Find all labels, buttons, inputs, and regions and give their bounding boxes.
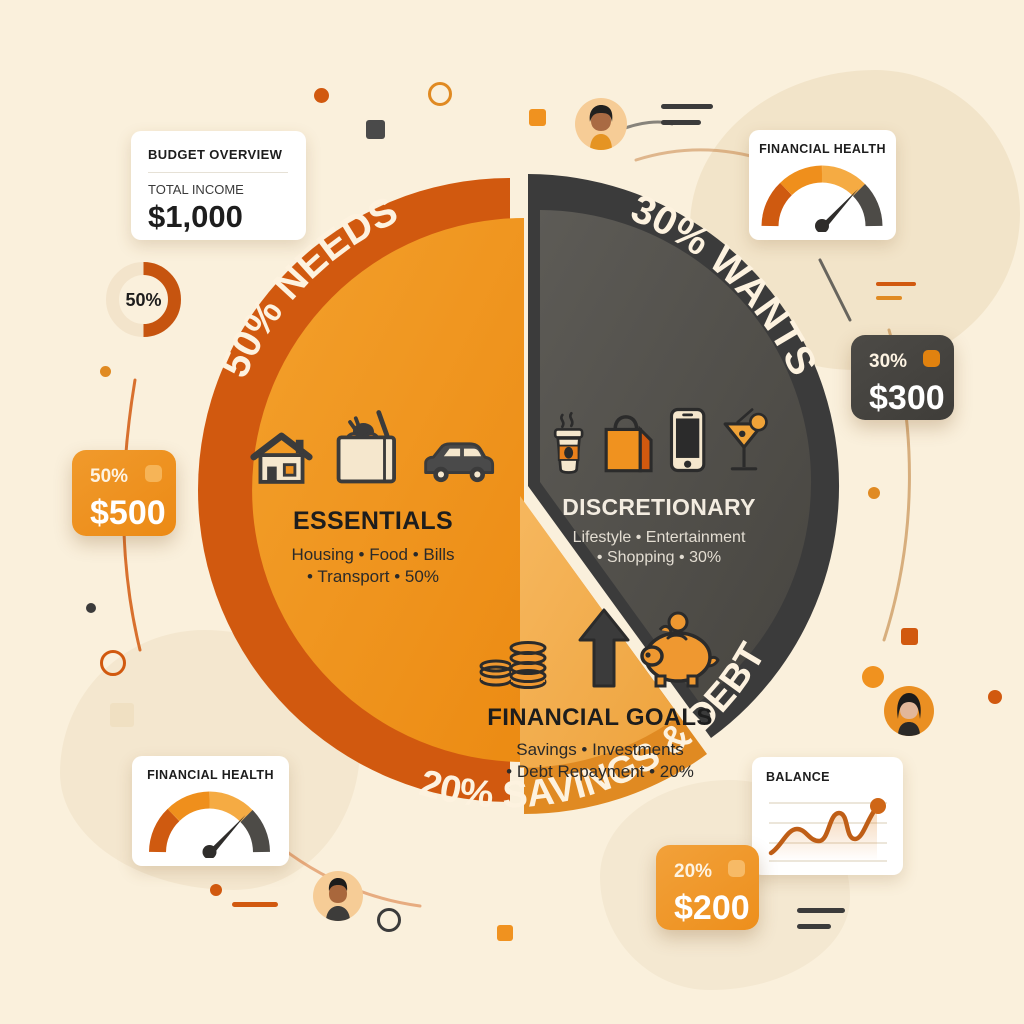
wants-heading: DISCRETIONARY (548, 494, 770, 521)
stat-card-needs-percent: 50% (90, 466, 128, 488)
decorative-dot (988, 690, 1002, 704)
decorative-square (366, 120, 385, 139)
decorative-line (876, 282, 916, 286)
stat-card-wants[interactable]: 30% $300 (851, 335, 954, 420)
coffee-cup-icon (548, 406, 589, 478)
stat-card-wants-percent: 30% (869, 351, 907, 373)
avatar[interactable] (313, 871, 363, 921)
car-icon (418, 437, 498, 487)
house-icon (248, 427, 315, 487)
card-chip-icon (145, 465, 162, 482)
donut-badge-value: 50% (125, 290, 161, 310)
stat-card-savings[interactable]: 20% $200 (656, 845, 759, 930)
decorative-line (232, 902, 278, 907)
piggy-bank-icon (638, 610, 722, 690)
decorative-square (497, 925, 513, 941)
decorative-line (797, 908, 845, 913)
needs-content: ESSENTIALS Housing • Food • Bills • Tran… (248, 415, 498, 588)
needs-icon-row (248, 415, 498, 487)
decorative-line (876, 296, 902, 300)
stat-card-needs-amount: $500 (90, 494, 166, 533)
grocery-bag-icon (329, 405, 404, 487)
smartphone-icon (667, 402, 708, 478)
needs-detail-2: • Transport • 50% (248, 566, 498, 588)
savings-detail-2: • Debt Repayment • 20% (478, 761, 722, 783)
financial-health-card-bottom[interactable]: FINANCIAL HEALTH (132, 756, 289, 866)
balance-title: BALANCE (766, 770, 830, 784)
wants-content: DISCRETIONARY Lifestyle • Entertainment … (548, 398, 770, 569)
gauge-icon (760, 164, 885, 232)
decorative-dot (86, 603, 96, 613)
decorative-ring (377, 908, 401, 932)
decorative-dot (100, 366, 111, 377)
stat-card-wants-amount: $300 (869, 379, 945, 418)
avatar-person-icon (884, 686, 934, 736)
stat-card-savings-amount: $200 (674, 889, 750, 928)
donut-badge: 50% (101, 257, 186, 342)
decorative-line (661, 104, 713, 109)
donut-chart-icon: 50% (101, 257, 186, 342)
financial-health-title-bottom: FINANCIAL HEALTH (132, 768, 289, 782)
avatar-person-icon (313, 871, 363, 921)
needs-detail-1: Housing • Food • Bills (248, 544, 498, 566)
card-divider (148, 172, 288, 173)
budget-overview-title: BUDGET OVERVIEW (148, 147, 282, 162)
decorative-dot (868, 487, 880, 499)
avatar-person-icon (575, 98, 627, 150)
financial-health-title-top: FINANCIAL HEALTH (749, 142, 896, 156)
avatar[interactable] (575, 98, 627, 150)
stat-card-needs[interactable]: 50% $500 (72, 450, 176, 536)
gauge-icon (143, 790, 277, 858)
wants-detail-2: • Shopping • 30% (548, 548, 770, 568)
coin-stack-icon (478, 610, 570, 690)
wants-detail-1: Lifestyle • Entertainment (548, 528, 770, 548)
balance-line-chart (759, 791, 896, 869)
decorative-line (661, 120, 701, 125)
stat-card-savings-percent: 20% (674, 861, 712, 883)
card-chip-icon (923, 350, 940, 367)
up-arrow-icon (576, 608, 632, 690)
budget-overview-amount: $1,000 (148, 199, 243, 235)
decorative-square (110, 703, 134, 727)
decorative-dot (210, 884, 222, 896)
savings-heading: FINANCIAL GOALS (478, 704, 722, 732)
decorative-square (901, 628, 918, 645)
wants-icon-row (548, 398, 770, 478)
savings-detail-1: Savings • Investments (478, 739, 722, 761)
financial-health-card-top[interactable]: FINANCIAL HEALTH (749, 130, 896, 240)
card-chip-icon (728, 860, 745, 877)
decorative-square (529, 109, 546, 126)
balance-card[interactable]: BALANCE (752, 757, 903, 875)
decorative-dot (314, 88, 329, 103)
decorative-ring (100, 650, 126, 676)
needs-heading: ESSENTIALS (248, 507, 498, 536)
decorative-ring (428, 82, 452, 106)
decorative-line (797, 924, 831, 929)
budget-overview-card[interactable]: BUDGET OVERVIEW TOTAL INCOME $1,000 (131, 131, 306, 240)
savings-icon-row (478, 608, 722, 690)
avatar[interactable] (884, 686, 934, 736)
savings-content: FINANCIAL GOALS Savings • Investments • … (478, 608, 722, 783)
shopping-bag-icon (599, 406, 656, 478)
cocktail-icon (718, 404, 770, 478)
budget-overview-subtitle: TOTAL INCOME (148, 182, 244, 197)
infographic-canvas: 50% NEEDS 30% WANTS 20% SAVINGS & DEBT (0, 0, 1024, 1024)
